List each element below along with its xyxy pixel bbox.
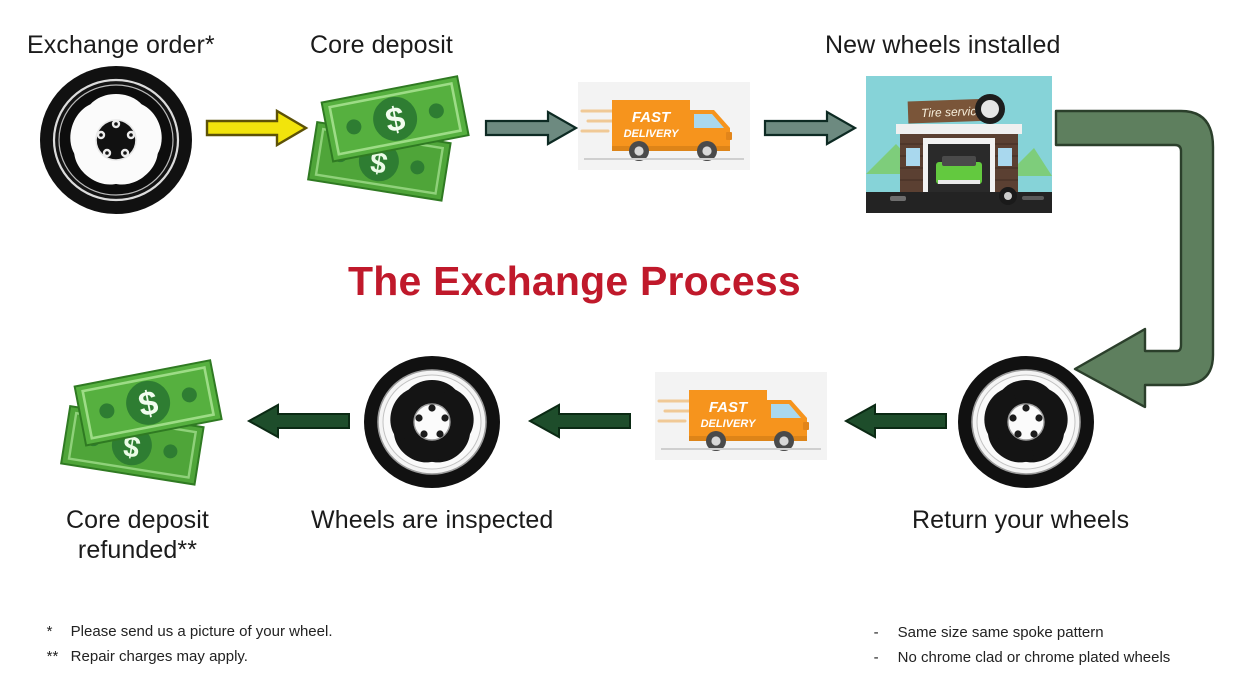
label-wheels-are-inspected: Wheels are inspected bbox=[311, 505, 553, 535]
money-icon-core-deposit-refunded: $ $ bbox=[58, 352, 233, 482]
delivery-truck-icon-return: FAST DELIVERY bbox=[655, 372, 827, 460]
svg-text:FAST: FAST bbox=[632, 109, 672, 126]
label-return-your-wheels: Return your wheels bbox=[912, 505, 1129, 535]
exchange-process-diagram: The Exchange Process Exchange order* Cor… bbox=[0, 0, 1250, 666]
page-title: The Exchange Process bbox=[348, 258, 801, 305]
footnote-left-2-marker: ** bbox=[47, 644, 71, 669]
tire-service-shop-icon: Tire service bbox=[866, 76, 1052, 213]
label-core-deposit-refunded-line1: Core deposit bbox=[40, 505, 235, 535]
svg-text:Tire service: Tire service bbox=[921, 104, 984, 120]
arrow-slate-shipping-to-shop bbox=[763, 110, 858, 146]
svg-text:DELIVERY: DELIVERY bbox=[701, 418, 757, 430]
label-new-wheels-installed: New wheels installed bbox=[825, 30, 1060, 60]
wheel-icon-wheels-inspected bbox=[362, 354, 502, 490]
footnote-right-2-marker: - bbox=[874, 645, 898, 670]
footnote-right-2-text: No chrome clad or chrome plated wheels bbox=[898, 649, 1171, 666]
delivery-truck-icon-outbound: FAST DELIVERY bbox=[578, 82, 750, 170]
label-core-deposit: Core deposit bbox=[310, 30, 453, 60]
label-core-deposit-refunded-line2: refunded** bbox=[40, 535, 235, 565]
footnote-left-2-text: Repair charges may apply. bbox=[71, 648, 248, 665]
svg-text:DELIVERY: DELIVERY bbox=[624, 128, 680, 140]
footnote-left-2: **Repair charges may apply. bbox=[30, 619, 248, 694]
money-icon-core-deposit: $ $ bbox=[305, 68, 480, 198]
arrow-yellow-order-to-deposit bbox=[205, 108, 310, 148]
arrow-green-inspection-to-refund bbox=[246, 403, 351, 439]
label-exchange-order: Exchange order* bbox=[27, 30, 215, 60]
footnote-right-2: -No chrome clad or chrome plated wheels bbox=[857, 620, 1170, 695]
arrow-green-shipping-to-inspection bbox=[527, 403, 632, 439]
svg-text:FAST: FAST bbox=[709, 399, 749, 416]
wheel-icon-exchange-order bbox=[37, 64, 195, 216]
arrow-green-return-to-shipping bbox=[843, 403, 948, 439]
arrow-slate-deposit-to-shipping bbox=[484, 110, 579, 146]
wheel-icon-return-your-wheels bbox=[956, 354, 1096, 490]
